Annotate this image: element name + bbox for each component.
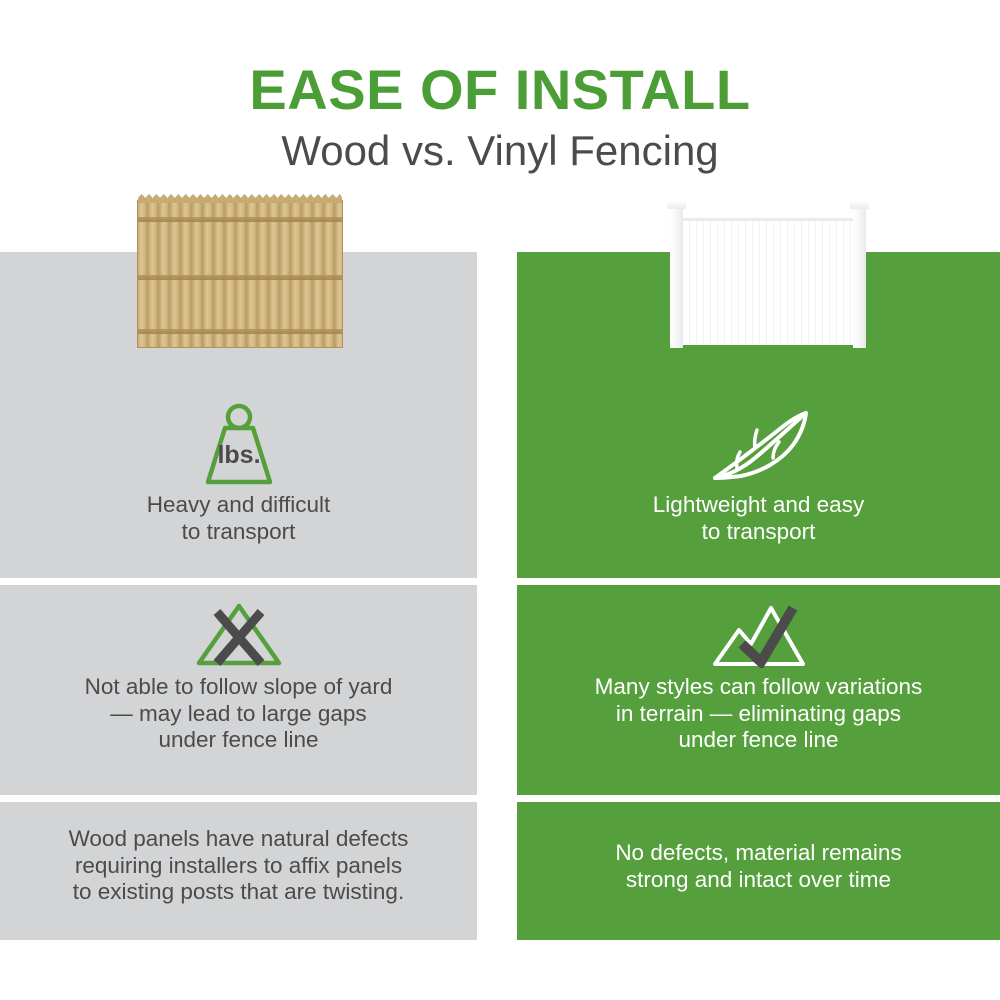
wood-rail [138, 217, 342, 222]
vinyl-cell-slope: Many styles can follow variations in ter… [517, 600, 1000, 754]
text-line: Lightweight and easy [545, 492, 972, 519]
mountain-x-icon [0, 600, 477, 674]
text-line: under fence line [545, 727, 972, 754]
text-line: Wood panels have natural defects [28, 826, 449, 853]
text-line: Not able to follow slope of yard [28, 674, 449, 701]
infographic-page: EASE OF INSTALL Wood vs. Vinyl Fencing l… [0, 0, 1000, 1000]
text-line: to transport [545, 519, 972, 546]
text-line: No defects, material remains [545, 840, 972, 867]
wood-rail [138, 275, 342, 280]
text-line: requiring installers to affix panels [28, 853, 449, 880]
vinyl-row-2-panel: Many styles can follow variations in ter… [517, 585, 1000, 795]
text-line: strong and intact over time [545, 867, 972, 894]
text-line: to transport [28, 519, 449, 546]
text-line: — may lead to large gaps [28, 701, 449, 728]
vinyl-fence-image [670, 200, 866, 348]
weight-icon-label: lbs. [217, 441, 260, 469]
wood-rail [138, 329, 342, 334]
vinyl-post-cap [850, 200, 869, 209]
vinyl-row-1-panel: Lightweight and easy to transport [517, 252, 1000, 578]
text-line: in terrain — eliminating gaps [545, 701, 972, 728]
wood-cell-slope: Not able to follow slope of yard — may l… [0, 600, 477, 754]
page-subtitle: Wood vs. Vinyl Fencing [0, 128, 1000, 174]
vinyl-post-cap [667, 200, 686, 209]
column-vinyl: Lightweight and easy to transport Many s… [517, 252, 1000, 940]
wood-defects-text: Wood panels have natural defects requiri… [0, 826, 477, 906]
weight-icon: lbs. [0, 400, 477, 492]
wood-cell-weight: lbs. Heavy and difficult to transport [0, 400, 477, 545]
wood-cell-defects: Wood panels have natural defects requiri… [0, 826, 477, 906]
text-line: Heavy and difficult [28, 492, 449, 519]
vinyl-cell-defects: No defects, material remains strong and … [517, 840, 1000, 893]
feather-icon [517, 400, 1000, 492]
column-wood: lbs. Heavy and difficult to transport [0, 252, 477, 940]
vinyl-defects-text: No defects, material remains strong and … [517, 840, 1000, 893]
vinyl-cell-weight: Lightweight and easy to transport [517, 400, 1000, 545]
wood-row-3-panel: Wood panels have natural defects requiri… [0, 802, 477, 940]
vinyl-post [853, 206, 866, 348]
vinyl-row-3-panel: No defects, material remains strong and … [517, 802, 1000, 940]
header: EASE OF INSTALL Wood vs. Vinyl Fencing [0, 0, 1000, 190]
wood-slope-text: Not able to follow slope of yard — may l… [0, 674, 477, 754]
wood-row-2-panel: Not able to follow slope of yard — may l… [0, 585, 477, 795]
wood-row-1-panel: lbs. Heavy and difficult to transport [0, 252, 477, 578]
text-line: Many styles can follow variations [545, 674, 972, 701]
mountain-check-icon [517, 600, 1000, 674]
text-line: under fence line [28, 727, 449, 754]
wood-fence-image [137, 200, 343, 348]
page-title: EASE OF INSTALL [0, 62, 1000, 118]
vinyl-post [670, 206, 683, 348]
text-line: to existing posts that are twisting. [28, 879, 449, 906]
wood-weight-text: Heavy and difficult to transport [0, 492, 477, 545]
vinyl-weight-text: Lightweight and easy to transport [517, 492, 1000, 545]
vinyl-slope-text: Many styles can follow variations in ter… [517, 674, 1000, 754]
